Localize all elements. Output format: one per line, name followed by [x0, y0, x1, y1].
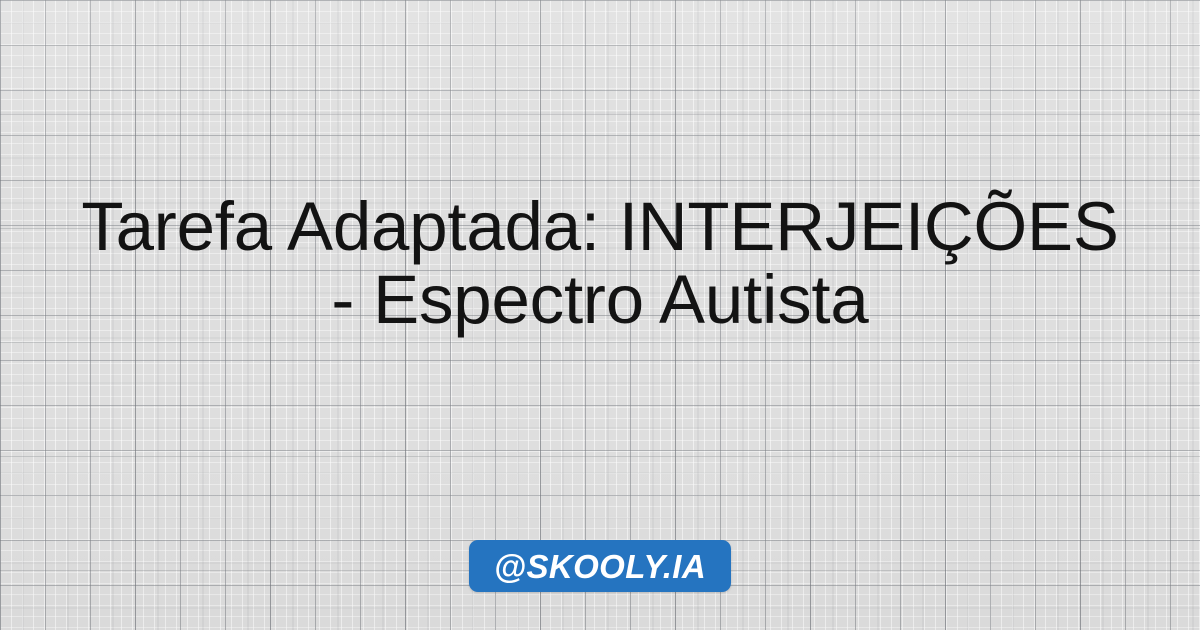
- page-title: Tarefa Adaptada: INTERJEIÇÕES - Espectro…: [78, 190, 1122, 336]
- watermark-row: @SKOOLY.IA: [0, 540, 1200, 592]
- handle-badge[interactable]: @SKOOLY.IA: [469, 540, 731, 592]
- handle-badge-label: @SKOOLY.IA: [494, 550, 706, 583]
- title-container: Tarefa Adaptada: INTERJEIÇÕES - Espectro…: [78, 190, 1122, 440]
- share-card: Tarefa Adaptada: INTERJEIÇÕES - Espectro…: [0, 0, 1200, 630]
